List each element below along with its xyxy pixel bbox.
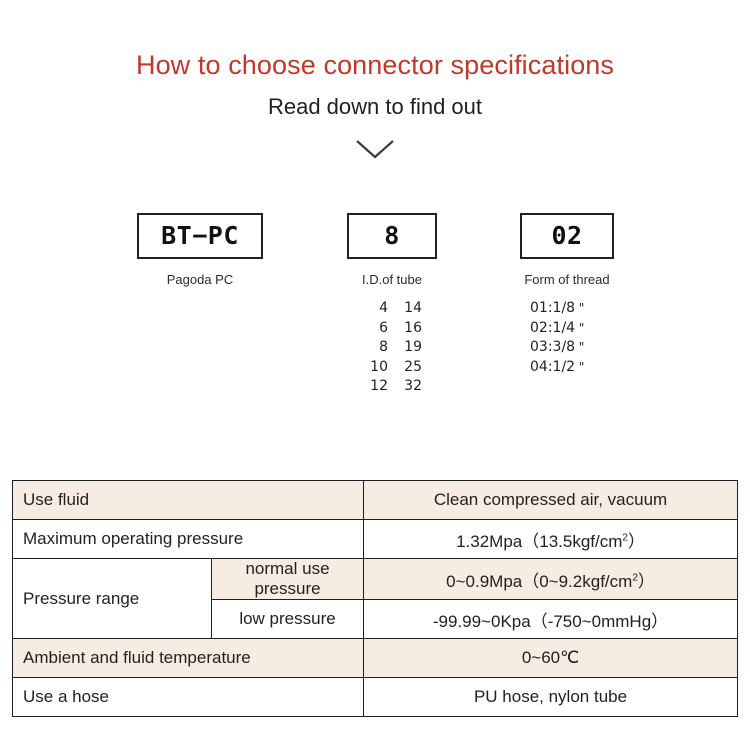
thread-form-item: 04:1/2 " — [520, 358, 614, 378]
tube-size-list: 41461681910251232 — [347, 299, 437, 397]
page-title: How to choose connector specifications — [0, 48, 750, 82]
spec-table-row: Pressure rangenormal use pressure0~0.9Mp… — [13, 559, 738, 600]
spec-label-cell: Pressure range — [13, 559, 212, 639]
spec-label-cell: Ambient and fluid temperature — [13, 639, 364, 678]
spec-value-text: 1.32Mpa（13.5kgf/cm — [456, 532, 622, 551]
code-column-thread: 02 Form of thread 01:1/8 "02:1/4 "03:3/8… — [520, 213, 614, 377]
tube-size-value-a: 4 — [362, 299, 388, 319]
spec-table-row: Maximum operating pressure1.32Mpa（13.5kg… — [13, 520, 738, 559]
spec-value-cell: Clean compressed air, vacuum — [364, 481, 738, 520]
chevron-down-icon — [355, 138, 395, 162]
spec-label-cell: Use fluid — [13, 481, 364, 520]
code-caption-thread: Form of thread — [520, 272, 614, 287]
thread-form-item: 03:3/8 " — [520, 338, 614, 358]
spec-value-cell: 0~60℃ — [364, 639, 738, 678]
code-caption-tube: I.D.of tube — [347, 272, 437, 287]
code-box-tube: 8 — [347, 213, 437, 259]
spec-sublabel-cell: low pressure — [212, 600, 364, 639]
spec-value-cell: 0~0.9Mpa（0~9.2kgf/cm2） — [364, 559, 738, 600]
thread-form-unit: " — [575, 360, 584, 374]
code-column-series: BT−PC Pagoda PC — [137, 213, 263, 287]
tube-size-value-a: 6 — [362, 319, 388, 339]
spec-label-cell: Use a hose — [13, 678, 364, 717]
spec-value-text: 0~0.9Mpa（0~9.2kgf/cm — [446, 572, 632, 591]
tube-size-item: 1025 — [347, 358, 437, 378]
spec-table-row: Ambient and fluid temperature0~60℃ — [13, 639, 738, 678]
page-subtitle: Read down to find out — [0, 93, 750, 121]
thread-form-label: 01:1/8 — [530, 300, 575, 316]
tube-size-item: 414 — [347, 299, 437, 319]
spec-value-cell: 1.32Mpa（13.5kgf/cm2） — [364, 520, 738, 559]
code-box-thread: 02 — [520, 213, 614, 259]
spec-sublabel-cell: normal use pressure — [212, 559, 364, 600]
tube-size-value-b: 16 — [388, 319, 422, 339]
thread-form-item: 01:1/8 " — [520, 299, 614, 319]
thread-form-unit: " — [575, 301, 584, 315]
code-box-series: BT−PC — [137, 213, 263, 259]
tube-size-value-a: 10 — [362, 358, 388, 378]
tube-size-item: 616 — [347, 319, 437, 339]
spec-value-text: -99.99~0Kpa（-750~0mmHg） — [433, 612, 668, 631]
tube-size-value-b: 19 — [388, 338, 422, 358]
thread-form-label: 02:1/4 — [530, 320, 575, 336]
tube-size-item: 1232 — [347, 377, 437, 397]
thread-form-list: 01:1/8 "02:1/4 "03:3/8 "04:1/2 " — [520, 299, 614, 377]
spec-value-text-tail: ） — [628, 532, 645, 551]
code-caption-series: Pagoda PC — [137, 272, 263, 287]
thread-form-unit: " — [575, 340, 584, 354]
spec-table-row: Use fluidClean compressed air, vacuum — [13, 481, 738, 520]
thread-form-label: 04:1/2 — [530, 359, 575, 375]
thread-form-unit: " — [575, 321, 584, 335]
tube-size-value-a: 12 — [362, 377, 388, 397]
tube-size-item: 819 — [347, 338, 437, 358]
tube-size-value-b: 14 — [388, 299, 422, 319]
spec-value-cell: PU hose, nylon tube — [364, 678, 738, 717]
spec-value-text-tail: ） — [638, 572, 655, 591]
spec-value-cell: -99.99~0Kpa（-750~0mmHg） — [364, 600, 738, 639]
spec-label-cell: Maximum operating pressure — [13, 520, 364, 559]
spec-table-row: Use a hosePU hose, nylon tube — [13, 678, 738, 717]
tube-size-value-b: 32 — [388, 377, 422, 397]
tube-size-value-a: 8 — [362, 338, 388, 358]
thread-form-label: 03:3/8 — [530, 339, 575, 355]
thread-form-item: 02:1/4 " — [520, 319, 614, 339]
specification-table: Use fluidClean compressed air, vacuumMax… — [12, 480, 738, 717]
tube-size-value-b: 25 — [388, 358, 422, 378]
code-column-tube: 8 I.D.of tube 41461681910251232 — [347, 213, 437, 397]
